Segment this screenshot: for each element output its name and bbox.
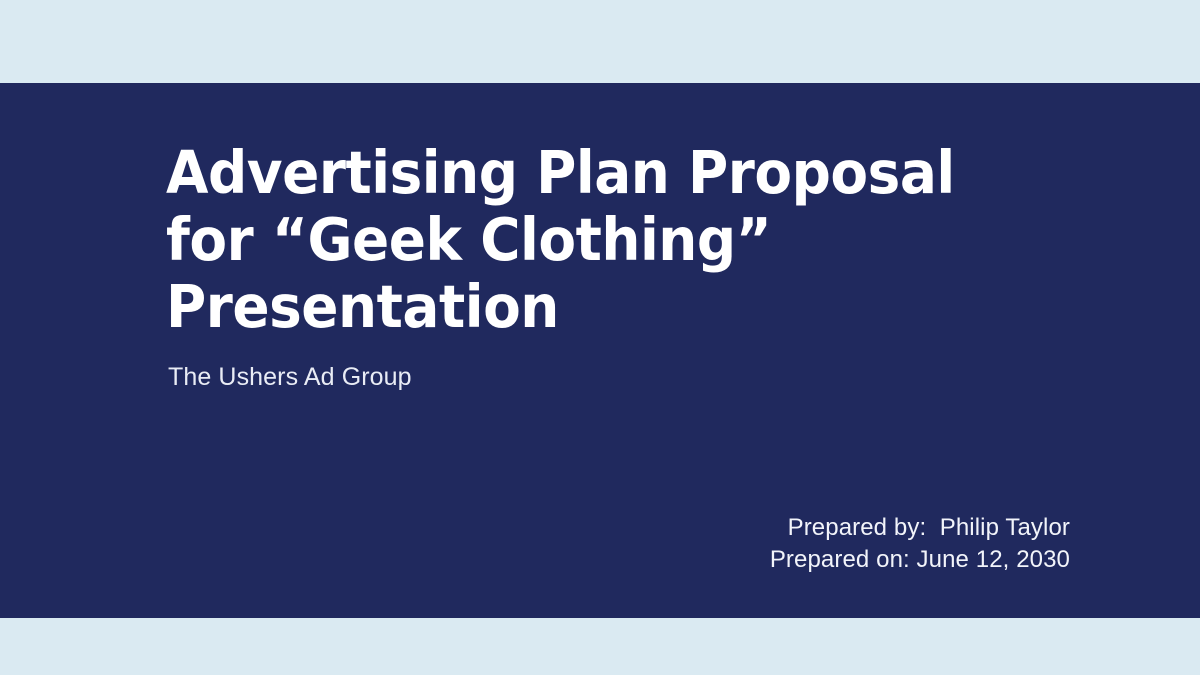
title-line-1: Advertising Plan Proposal: [166, 139, 966, 206]
top-accent-band: [0, 0, 1200, 83]
title-line-2: for “Geek Clothing”: [166, 206, 966, 273]
slide-subtitle: The Ushers Ad Group: [168, 360, 412, 394]
prepared-by-text: Prepared by: Philip Taylor: [770, 512, 1070, 544]
slide-title: Advertising Plan Proposal for “Geek Clot…: [166, 139, 1026, 340]
title-line-3: Presentation: [166, 273, 966, 340]
presentation-slide: Advertising Plan Proposal for “Geek Clot…: [0, 0, 1200, 675]
prepared-on-text: Prepared on: June 12, 2030: [770, 544, 1070, 576]
bottom-accent-band: [0, 618, 1200, 675]
slide-footer: Prepared by: Philip Taylor Prepared on: …: [770, 512, 1070, 576]
